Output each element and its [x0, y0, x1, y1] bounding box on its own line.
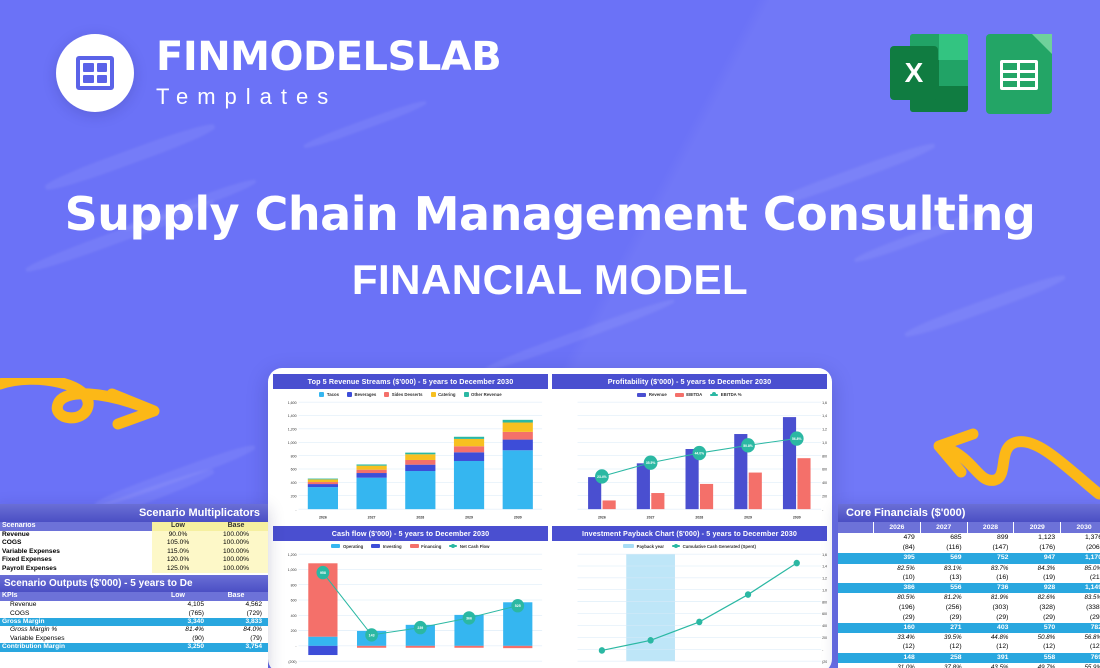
svg-text:1,600: 1,600 — [822, 401, 827, 405]
cell-base: 4,562 — [210, 601, 268, 609]
column-header: 2030 — [1061, 522, 1100, 533]
cell: 82.6% — [1014, 593, 1061, 602]
cell: 44.8% — [968, 633, 1015, 642]
svg-text:200: 200 — [822, 635, 827, 639]
row-label: Revenue — [0, 531, 152, 539]
cell: 39.5% — [921, 633, 968, 642]
cell: (29) — [1061, 613, 1100, 623]
table-row: 160271403570782 — [838, 623, 1100, 633]
chart-top-5-revenue-streams[interactable]: Top 5 Revenue Streams ($'000) - 5 years … — [273, 374, 548, 522]
row-label: Gross Margin % — [0, 626, 152, 634]
column-header-kpis: KPIs — [0, 592, 152, 601]
chart-investment-payback[interactable]: Investment Payback Chart ($'000) - 5 yea… — [552, 526, 827, 668]
cell: 899 — [968, 533, 1015, 543]
cell: (13) — [921, 573, 968, 583]
cell: 395 — [874, 553, 921, 563]
table-row: COGS105.0%100.00% — [0, 539, 268, 547]
cell-base: 3,754 — [210, 643, 268, 651]
cell: 1,376 — [1061, 533, 1100, 543]
cell: 55.9% — [1061, 663, 1100, 668]
svg-text:800: 800 — [291, 583, 297, 587]
excel-letter: X — [890, 46, 938, 100]
table-row: 80.5%81.2%81.9%82.6%83.5% — [838, 593, 1100, 602]
table-row: 31.0%37.8%43.5%49.7%55.9% — [838, 663, 1100, 668]
row-label — [838, 623, 874, 633]
cell: 403 — [968, 623, 1015, 633]
cell-low: 81.4% — [152, 626, 210, 634]
svg-text:200: 200 — [291, 494, 297, 498]
row-label: Gross Margin — [0, 618, 152, 626]
table-row: Contribution Margin3,2503,754 — [0, 643, 268, 651]
svg-text:200: 200 — [291, 629, 297, 633]
svg-text:400: 400 — [291, 613, 297, 617]
svg-text:600: 600 — [822, 612, 827, 616]
cell: 148 — [874, 653, 921, 663]
core-financials-title: Core Financials ($'000) — [838, 504, 1100, 522]
svg-text:200: 200 — [822, 494, 827, 498]
svg-text:1,600: 1,600 — [822, 552, 827, 556]
cell: (29) — [921, 613, 968, 623]
scenario-tables-panel[interactable]: Scenario Multiplicators Scenarios Low Ba… — [0, 504, 268, 668]
page-title: Supply Chain Management Consulting — [0, 190, 1100, 238]
cell: (16) — [968, 573, 1015, 583]
curved-arrow-right-icon — [0, 378, 196, 488]
svg-text:800: 800 — [822, 600, 827, 604]
row-label — [838, 573, 874, 583]
chart-legend: Tacos Beverages Sides Desserts Catering … — [273, 389, 548, 398]
cell: (29) — [1014, 613, 1061, 623]
svg-text:2030: 2030 — [793, 515, 801, 519]
cell: (29) — [968, 613, 1015, 623]
cell: 479 — [874, 533, 921, 543]
logo-circle — [56, 34, 134, 112]
cell: 82.5% — [874, 564, 921, 573]
cell: 391 — [968, 653, 1015, 663]
cell-base: 100.00% — [210, 548, 268, 556]
table-row: 3955697529471,170 — [838, 553, 1100, 563]
cell: (176) — [1014, 543, 1061, 553]
cell: 386 — [874, 583, 921, 593]
svg-text:1,000: 1,000 — [822, 588, 827, 592]
cell: (10) — [874, 573, 921, 583]
cell-low: 90.0% — [152, 531, 210, 539]
cell-base: 84.0% — [210, 626, 268, 634]
svg-text:2030: 2030 — [514, 515, 522, 519]
svg-text:-: - — [295, 644, 297, 648]
cell: 83.7% — [968, 564, 1015, 573]
legend-label: Payback year — [637, 544, 664, 549]
chart-legend: Revenue EBITDA EBITDA % — [552, 389, 827, 398]
table-row: (196)(256)(303)(328)(338) — [838, 603, 1100, 613]
cell-base: 100.00% — [210, 539, 268, 547]
cell: (328) — [1014, 603, 1061, 613]
column-header-base: Base — [210, 522, 268, 531]
svg-text:800: 800 — [822, 454, 827, 458]
dashboard-preview[interactable]: Top 5 Revenue Streams ($'000) - 5 years … — [268, 368, 832, 668]
table-row: (29)(29)(29)(29)(29) — [838, 613, 1100, 623]
svg-text:-: - — [822, 647, 824, 651]
svg-text:1,200: 1,200 — [822, 576, 827, 580]
svg-text:600: 600 — [291, 468, 297, 472]
cell: (256) — [921, 603, 968, 613]
legend-label: Tacos — [327, 392, 339, 397]
svg-text:(200): (200) — [288, 659, 296, 663]
file-format-icons: X — [890, 34, 1052, 114]
squiggle-arrow-left-icon — [917, 398, 1100, 508]
svg-text:400: 400 — [822, 624, 827, 628]
svg-text:1,000: 1,000 — [822, 441, 827, 445]
table-row: Revenue90.0%100.00% — [0, 531, 268, 539]
svg-text:1,400: 1,400 — [822, 564, 827, 568]
svg-text:1,400: 1,400 — [822, 414, 827, 418]
row-label — [838, 613, 874, 623]
cell: (12) — [921, 642, 968, 652]
svg-text:-: - — [295, 508, 297, 512]
chart-plot-area: 1,2001,000800600400200-(200)958143239366… — [273, 550, 548, 668]
row-label — [838, 642, 874, 652]
cell: (12) — [874, 642, 921, 652]
cell: 569 — [921, 553, 968, 563]
svg-text:525: 525 — [515, 604, 521, 608]
column-header: 2027 — [921, 522, 968, 533]
cell: 736 — [968, 583, 1015, 593]
cell-base: 100.00% — [210, 531, 268, 539]
cell: 258 — [921, 653, 968, 663]
cell: 56.8% — [1061, 633, 1100, 642]
cell-low: 4,105 — [152, 601, 210, 609]
cell: 769 — [1061, 653, 1100, 663]
cell: (29) — [874, 613, 921, 623]
brand-tagline: Templates — [156, 84, 501, 110]
svg-text:2026: 2026 — [319, 515, 327, 519]
cell-base: (729) — [210, 610, 268, 618]
cell-low: 3,340 — [152, 618, 210, 626]
cell: (19) — [1014, 573, 1061, 583]
cell: (12) — [1061, 642, 1100, 652]
column-header: 2026 — [874, 522, 921, 533]
svg-text:2029: 2029 — [465, 515, 473, 519]
svg-text:50.8%: 50.8% — [743, 444, 752, 448]
chart-plot-area: 1,6001,4001,2001,000800600400200-(200)20… — [552, 550, 827, 668]
chart-cash-flow[interactable]: Cash flow ($'000) - 5 years to December … — [273, 526, 548, 668]
legend-label: Financing — [421, 544, 441, 549]
legend-label: Net Cash Flow — [460, 544, 490, 549]
cell-low: (765) — [152, 610, 210, 618]
brand-header: FINMODELSLAB Templates — [56, 34, 501, 112]
table-row: (10)(13)(16)(19)(21) — [838, 573, 1100, 583]
scenario-multiplicators-rows: Revenue90.0%100.00%COGS105.0%100.00%Vari… — [0, 531, 268, 573]
cell: 752 — [968, 553, 1015, 563]
cell: (12) — [968, 642, 1015, 652]
brand-name: FINMODELSLAB — [156, 37, 501, 77]
legend-label: Sides Desserts — [392, 392, 423, 397]
cell: 84.3% — [1014, 564, 1061, 573]
svg-text:(200): (200) — [822, 659, 827, 663]
svg-text:1,000: 1,000 — [288, 441, 297, 445]
cell: (12) — [1014, 642, 1061, 652]
row-label: COGS — [0, 610, 152, 618]
legend-label: Beverages — [355, 392, 377, 397]
legend-label: Investing — [383, 544, 402, 549]
svg-text:2028: 2028 — [416, 515, 424, 519]
column-header-base: Base — [210, 592, 268, 601]
cell: (338) — [1061, 603, 1100, 613]
cell-base: (79) — [210, 635, 268, 643]
row-label: Payroll Expenses — [0, 565, 152, 573]
scenario-outputs-title: Scenario Outputs ($'000) - 5 years to De — [0, 575, 268, 592]
core-financials-rows: 4796858991,1231,376(84)(116)(147)(176)(2… — [838, 533, 1100, 668]
chart-title: Profitability ($'000) - 5 years to Decem… — [552, 374, 827, 389]
svg-text:366: 366 — [466, 616, 472, 620]
cell-low: 3,250 — [152, 643, 210, 651]
svg-text:1,000: 1,000 — [288, 567, 297, 571]
cell-low: 105.0% — [152, 539, 210, 547]
row-label — [838, 533, 874, 543]
svg-text:600: 600 — [291, 598, 297, 602]
svg-text:1,200: 1,200 — [288, 552, 297, 556]
cell: 1,170 — [1061, 553, 1100, 563]
svg-text:1,600: 1,600 — [288, 401, 297, 405]
chart-title: Top 5 Revenue Streams ($'000) - 5 years … — [273, 374, 548, 389]
row-label — [838, 633, 874, 642]
row-label — [838, 553, 874, 563]
svg-text:2028: 2028 — [695, 515, 703, 519]
legend-label: Cumulative Cash Generated (Spent) — [683, 544, 756, 549]
cell: (147) — [968, 543, 1015, 553]
chart-plot-area: 1,6001,4001,2001,000800600400200-23.4%35… — [552, 398, 827, 522]
row-label: Fixed Expenses — [0, 556, 152, 564]
chart-title: Investment Payback Chart ($'000) - 5 yea… — [552, 526, 827, 541]
row-label: Revenue — [0, 601, 152, 609]
scenario-outputs-header: KPIs Low Base — [0, 592, 268, 601]
svg-text:1,200: 1,200 — [288, 427, 297, 431]
table-row: Variable Expenses115.0%100.00% — [0, 548, 268, 556]
table-row: 3865567369281,149 — [838, 583, 1100, 593]
svg-text:2026: 2026 — [598, 515, 606, 519]
svg-text:23.4%: 23.4% — [597, 475, 606, 479]
cell: 782 — [1061, 623, 1100, 633]
svg-text:400: 400 — [822, 481, 827, 485]
cell: 50.8% — [1014, 633, 1061, 642]
chart-title: Cash flow ($'000) - 5 years to December … — [273, 526, 548, 541]
table-row: 4796858991,1231,376 — [838, 533, 1100, 543]
table-row: Revenue4,1054,562 — [0, 601, 268, 609]
cell: 37.8% — [921, 663, 968, 668]
cell: 83.1% — [921, 564, 968, 573]
google-sheets-icon — [986, 34, 1052, 114]
grid-logo-icon — [76, 56, 114, 90]
legend-label: Other Revenue — [471, 392, 502, 397]
svg-text:958: 958 — [320, 570, 326, 574]
core-financials-panel[interactable]: Core Financials ($'000) 2026202720282029… — [838, 504, 1100, 668]
table-row: 148258391558769 — [838, 653, 1100, 663]
legend-label: EBITDA — [686, 392, 702, 397]
row-label: COGS — [0, 539, 152, 547]
legend-label: Revenue — [649, 392, 667, 397]
column-header — [838, 522, 874, 533]
cell: 1,149 — [1061, 583, 1100, 593]
cell: 33.4% — [874, 633, 921, 642]
column-header: 2028 — [968, 522, 1015, 533]
chart-legend: Operating Investing Financing Net Cash F… — [273, 541, 548, 550]
cell: 570 — [1014, 623, 1061, 633]
hero-title-block: Supply Chain Management Consulting FINAN… — [0, 190, 1100, 304]
svg-text:2027: 2027 — [647, 515, 655, 519]
cell: 81.2% — [921, 593, 968, 602]
legend-label: EBITDA % — [721, 392, 742, 397]
scenario-multiplicators-title: Scenario Multiplicators — [0, 504, 268, 522]
chart-profitability[interactable]: Profitability ($'000) - 5 years to Decem… — [552, 374, 827, 522]
cell: 83.5% — [1061, 593, 1100, 602]
cell: 271 — [921, 623, 968, 633]
row-label: Contribution Margin — [0, 643, 152, 651]
table-row: Gross Margin3,3403,833 — [0, 618, 268, 626]
table-row: 82.5%83.1%83.7%84.3%85.0% — [838, 564, 1100, 573]
page-subtitle: FINANCIAL MODEL — [0, 256, 1100, 304]
table-row: (12)(12)(12)(12)(12) — [838, 642, 1100, 652]
cell: 556 — [921, 583, 968, 593]
row-label — [838, 593, 874, 602]
cell: (196) — [874, 603, 921, 613]
scenario-multiplicators-header: Scenarios Low Base — [0, 522, 268, 531]
cell: 685 — [921, 533, 968, 543]
svg-text:35.5%: 35.5% — [646, 461, 655, 465]
column-header: 2029 — [1014, 522, 1061, 533]
cell: 558 — [1014, 653, 1061, 663]
row-label — [838, 564, 874, 573]
cell-base: 100.00% — [210, 556, 268, 564]
cell: 85.0% — [1061, 564, 1100, 573]
svg-text:1,400: 1,400 — [288, 414, 297, 418]
cell: (303) — [968, 603, 1015, 613]
column-header-low: Low — [152, 522, 210, 531]
cell: (116) — [921, 543, 968, 553]
row-label — [838, 603, 874, 613]
svg-text:800: 800 — [291, 454, 297, 458]
cell-low: (90) — [152, 635, 210, 643]
table-row: (84)(116)(147)(176)(206) — [838, 543, 1100, 553]
column-header-low: Low — [152, 592, 210, 601]
cell-low: 125.0% — [152, 565, 210, 573]
table-row: Gross Margin %81.4%84.0% — [0, 626, 268, 634]
svg-text:-: - — [822, 508, 824, 512]
table-row: Variable Expenses(90)(79) — [0, 635, 268, 643]
cell: (206) — [1061, 543, 1100, 553]
svg-text:56.8%: 56.8% — [792, 437, 801, 441]
scenario-outputs-rows: Revenue4,1054,562COGS(765)(729)Gross Mar… — [0, 601, 268, 652]
svg-text:2027: 2027 — [368, 515, 376, 519]
svg-text:1,200: 1,200 — [822, 427, 827, 431]
column-header-scenarios: Scenarios — [0, 522, 152, 531]
row-label — [838, 653, 874, 663]
svg-text:44.0%: 44.0% — [695, 451, 704, 455]
legend-label: Operating — [343, 544, 363, 549]
table-row: Payroll Expenses125.0%100.00% — [0, 565, 268, 573]
row-label — [838, 543, 874, 553]
svg-text:2029: 2029 — [744, 515, 752, 519]
cell: 160 — [874, 623, 921, 633]
svg-text:600: 600 — [822, 468, 827, 472]
row-label: Variable Expenses — [0, 548, 152, 556]
cell: 80.5% — [874, 593, 921, 602]
cell-low: 115.0% — [152, 548, 210, 556]
cell: 928 — [1014, 583, 1061, 593]
row-label: Variable Expenses — [0, 635, 152, 643]
cell: 31.0% — [874, 663, 921, 668]
chart-plot-area: 1,6001,4001,2001,000800600400200-2026202… — [273, 398, 548, 522]
chart-legend: Payback year Cumulative Cash Generated (… — [552, 541, 827, 550]
table-row: 33.4%39.5%44.8%50.8%56.8% — [838, 633, 1100, 642]
excel-icon: X — [890, 34, 968, 112]
table-row: Fixed Expenses120.0%100.00% — [0, 556, 268, 564]
cell: (84) — [874, 543, 921, 553]
legend-label: Catering — [438, 392, 455, 397]
core-financials-header: 20262027202820292030 — [838, 522, 1100, 533]
cell-base: 100.00% — [210, 565, 268, 573]
cell: 1,123 — [1014, 533, 1061, 543]
cell: 81.9% — [968, 593, 1015, 602]
svg-text:400: 400 — [291, 481, 297, 485]
svg-text:143: 143 — [369, 633, 375, 637]
cell: 49.7% — [1014, 663, 1061, 668]
cell: 947 — [1014, 553, 1061, 563]
cell-base: 3,833 — [210, 618, 268, 626]
svg-text:239: 239 — [417, 625, 423, 629]
table-row: COGS(765)(729) — [0, 610, 268, 618]
row-label — [838, 583, 874, 593]
row-label — [838, 663, 874, 668]
cell-low: 120.0% — [152, 556, 210, 564]
cell: 43.5% — [968, 663, 1015, 668]
cell: (21) — [1061, 573, 1100, 583]
